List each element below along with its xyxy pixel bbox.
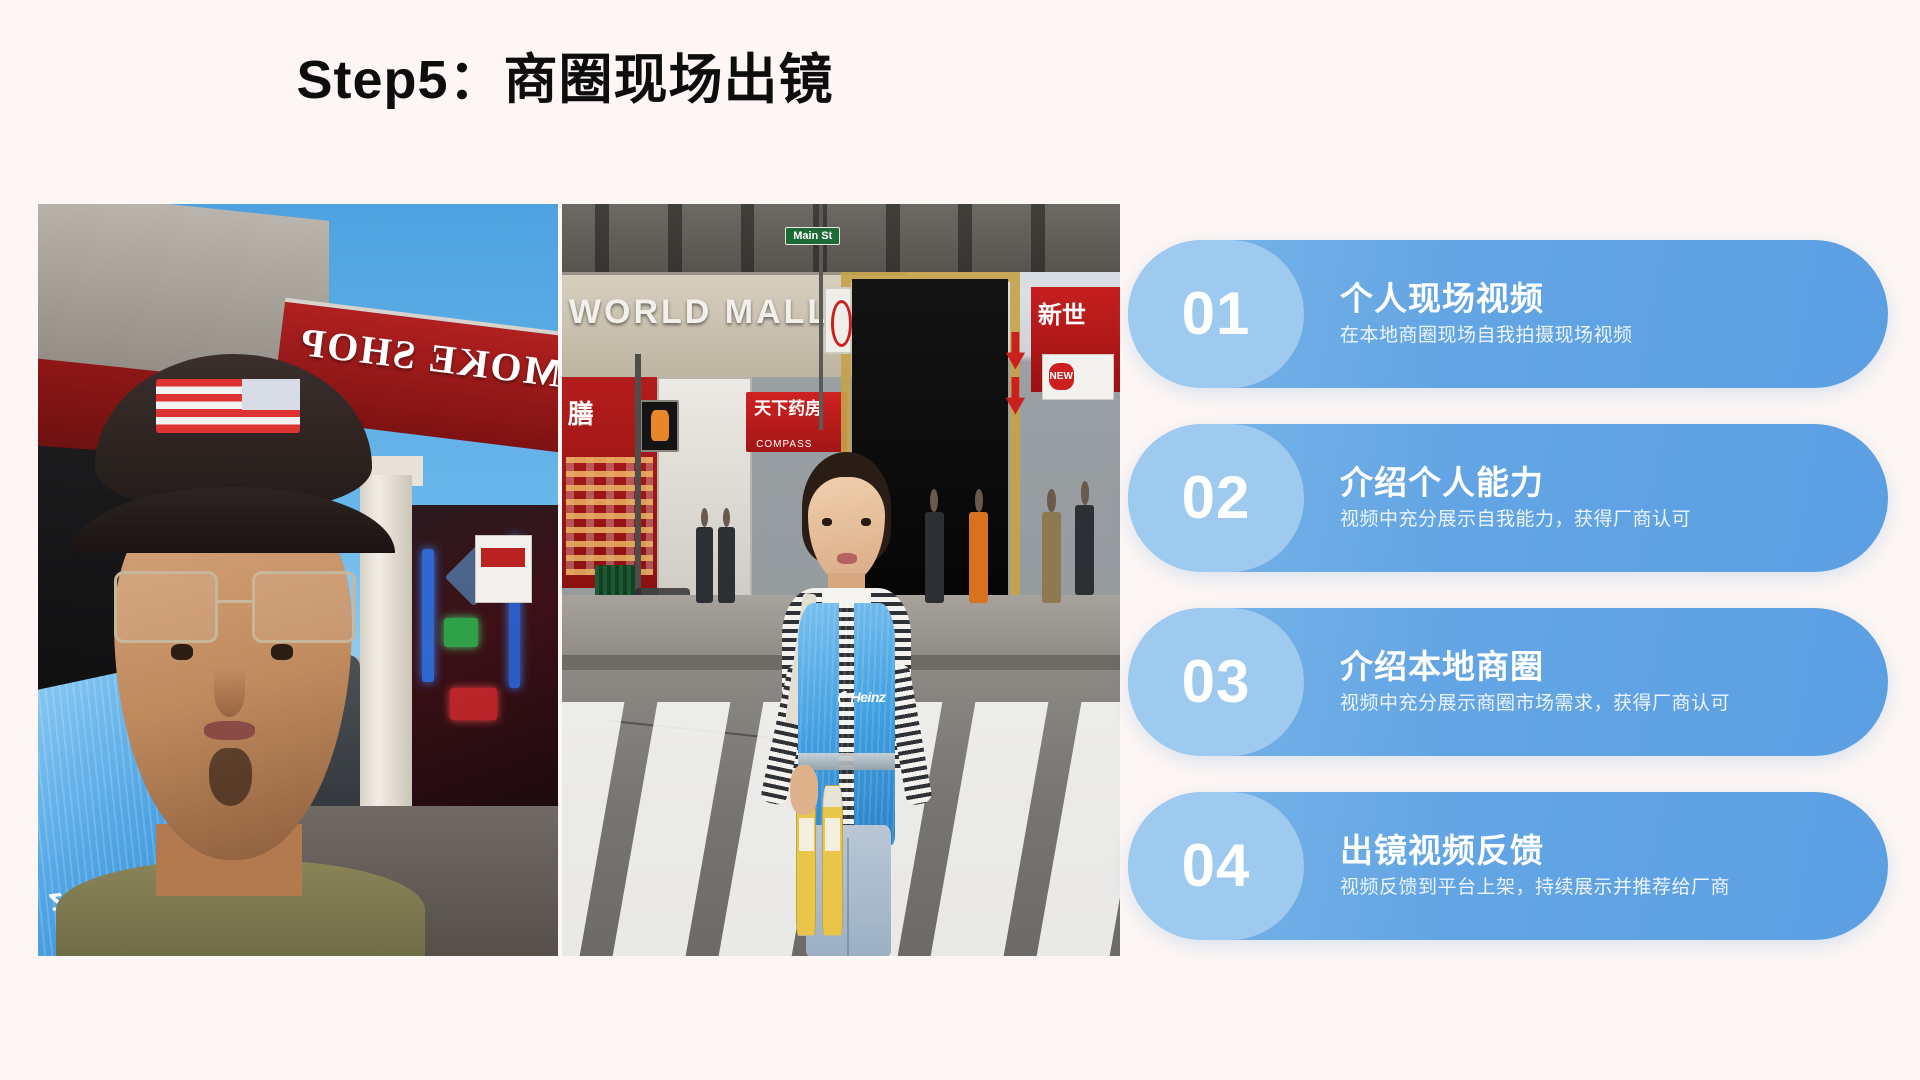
- pharmacy-sign-en: COMPASS: [756, 439, 812, 450]
- glasses-bridge: [218, 600, 252, 603]
- step-subtitle-04: 视频反馈到平台上架，持续展示并推荐给厂商: [1340, 876, 1848, 901]
- step-subtitle-01: 在本地商圈现场自我拍摄现场视频: [1340, 324, 1848, 349]
- crosswalk-stripe: [1036, 702, 1120, 956]
- pedestrian-hand-signal-icon: [640, 400, 679, 453]
- overhead-canopy: [562, 204, 1120, 272]
- canopy-beam: [886, 204, 900, 272]
- photo-selfie-man-smoke-shop: SMOKE SHOP Heinz: [38, 204, 558, 956]
- lens-right: [252, 571, 356, 643]
- neon-red-sign-icon: [450, 688, 497, 720]
- mouth: [837, 553, 857, 564]
- step-title-01: 个人现场视频: [1340, 280, 1848, 318]
- canopy-beam: [741, 204, 755, 272]
- pedestrian: [969, 512, 988, 602]
- flag-patch-icon: [156, 379, 300, 432]
- pedestrian-head: [975, 489, 983, 512]
- step-number-02: 02: [1182, 468, 1251, 528]
- jeans: [806, 825, 890, 956]
- pedestrian-head: [1081, 481, 1089, 504]
- pedestrian: [718, 527, 735, 602]
- step-number-badge-02: 02: [1128, 424, 1304, 572]
- step-number-badge-04: 04: [1128, 792, 1304, 940]
- window-notice: [475, 535, 532, 603]
- glasses-icon: [114, 571, 356, 643]
- step-title-03: 介绍本地商圈: [1340, 648, 1848, 686]
- lens-left: [114, 571, 218, 643]
- pedestrian: [1075, 505, 1094, 595]
- nose: [214, 667, 245, 717]
- eye-right: [861, 518, 871, 526]
- step-subtitle-02: 视频中充分展示自我能力，获得厂商认可: [1340, 508, 1848, 533]
- canopy-beam: [958, 204, 972, 272]
- crosswalk-stripe: [562, 702, 623, 956]
- photo-woman-crosswalk: WORLD MALL 膳 天下药房 COMPASS 新世 NEW M: [562, 204, 1120, 956]
- step-text-04: 出镜视频反馈 视频反馈到平台上架，持续展示并推荐给厂商: [1304, 832, 1888, 901]
- pedestrian: [696, 527, 713, 602]
- new-badge: NEW: [1049, 363, 1074, 390]
- crosswalk-stripe: [612, 702, 729, 956]
- step-title-02: 介绍个人能力: [1340, 464, 1848, 502]
- step-number-03: 03: [1182, 652, 1251, 712]
- cap-brim: [71, 487, 394, 553]
- goatee: [209, 748, 252, 806]
- step-number-01: 01: [1182, 284, 1251, 344]
- reflective-strip: [798, 753, 894, 770]
- canopy-beam: [668, 204, 682, 272]
- step-card-03[interactable]: 03 介绍本地商圈 视频中充分展示商圈市场需求，获得厂商认可: [1128, 608, 1888, 756]
- person-woman: Heinz: [746, 452, 947, 956]
- crosswalk-stripe: [930, 702, 1047, 956]
- hand: [790, 765, 818, 815]
- step-card-02[interactable]: 02 介绍个人能力 视频中充分展示自我能力，获得厂商认可: [1128, 424, 1888, 572]
- slide-root: Step5：商圈现场出镜 SMOKE SHOP: [0, 0, 1920, 1080]
- step-text-02: 介绍个人能力 视频中充分展示自我能力，获得厂商认可: [1304, 464, 1888, 533]
- world-mall-sign-text: WORLD MALL: [569, 293, 831, 332]
- no-turn-sign-icon: [824, 287, 852, 355]
- step-card-01[interactable]: 01 个人现场视频 在本地商圈现场自我拍摄现场视频: [1128, 240, 1888, 388]
- step-number-badge-01: 01: [1128, 240, 1304, 388]
- eye-right: [271, 644, 292, 659]
- mouth: [204, 721, 254, 740]
- photo-strip: SMOKE SHOP Heinz: [38, 204, 1120, 956]
- pedestrian-head: [701, 508, 708, 528]
- pedestrian: [1042, 512, 1061, 602]
- step-title-04: 出镜视频反馈: [1340, 832, 1848, 870]
- eye-left: [822, 518, 832, 526]
- canopy-beam: [595, 204, 609, 272]
- step-number-badge-03: 03: [1128, 608, 1304, 756]
- pedestrian-head: [1047, 489, 1055, 512]
- step-number-04: 04: [1182, 836, 1251, 896]
- person-man: Heinz: [48, 354, 433, 956]
- new-promo-sign: NEW: [1042, 354, 1115, 399]
- left-red-sign-text: 膳: [568, 394, 594, 431]
- step-text-01: 个人现场视频 在本地商圈现场自我拍摄现场视频: [1304, 280, 1888, 349]
- face: [808, 477, 884, 583]
- step-card-04[interactable]: 04 出镜视频反馈 视频反馈到平台上架，持续展示并推荐给厂商: [1128, 792, 1888, 940]
- page-title: Step5：商圈现场出镜: [0, 48, 1130, 113]
- step-subtitle-03: 视频中充分展示商圈市场需求，获得厂商认可: [1340, 692, 1848, 717]
- pharmacy-sign: 天下药房 COMPASS: [746, 392, 846, 452]
- canopy-beam: [1031, 204, 1045, 272]
- right-red-sign-text: 新世: [1038, 295, 1086, 330]
- eye-left: [171, 644, 192, 659]
- vest-heinz-logo: Heinz: [851, 689, 886, 705]
- pharmacy-sign-cn: 天下药房: [754, 394, 822, 419]
- neon-green-sign-icon: [444, 618, 478, 646]
- step-card-list: 01 个人现场视频 在本地商圈现场自我拍摄现场视频 02 介绍个人能力 视频中充…: [1128, 240, 1888, 940]
- step-text-03: 介绍本地商圈 视频中充分展示商圈市场需求，获得厂商认可: [1304, 648, 1888, 717]
- street-name-sign: Main St: [785, 227, 840, 245]
- beverage-bottle: [822, 785, 842, 936]
